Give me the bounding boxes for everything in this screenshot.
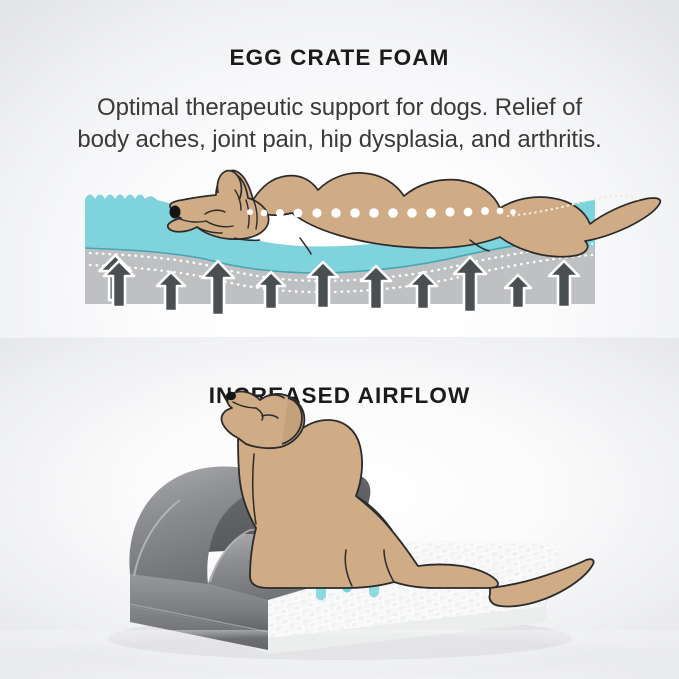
- panel-increased-airflow: INCREASED AIRFLOW: [0, 337, 679, 679]
- dog-nose-sitting: [226, 392, 236, 400]
- infographic-page: EGG CRATE FOAM Optimal therapeutic suppo…: [0, 0, 679, 679]
- illustration-dog-on-foam-cross-section: [0, 0, 679, 337]
- panel-egg-crate-foam: EGG CRATE FOAM Optimal therapeutic suppo…: [0, 0, 679, 337]
- dog-nose: [170, 206, 181, 219]
- illustration-dog-on-bolster-bed: [0, 338, 679, 679]
